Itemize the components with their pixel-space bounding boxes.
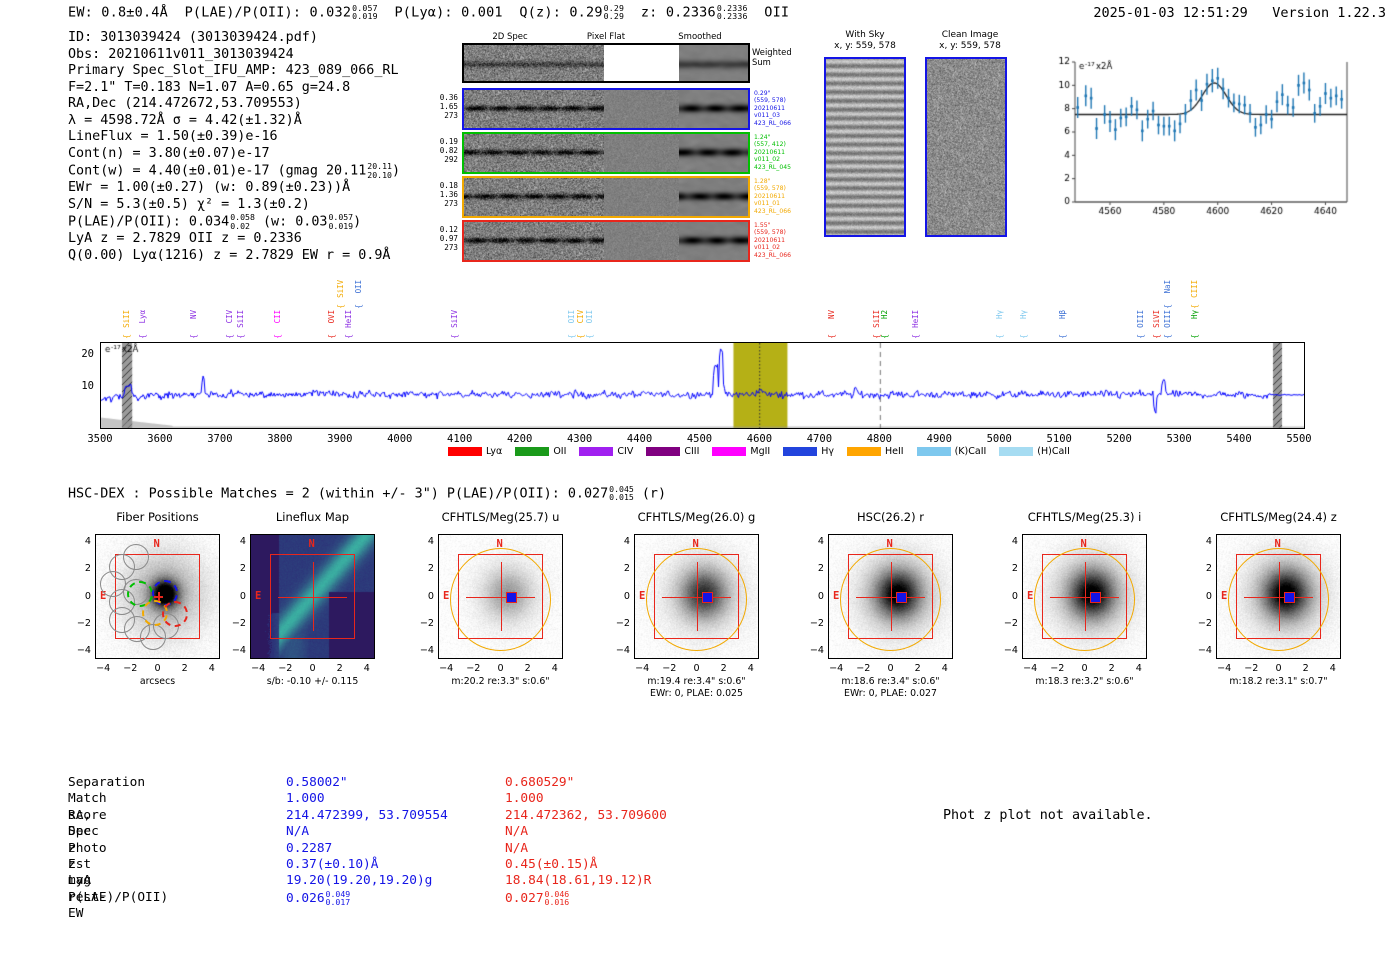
source-ellipse xyxy=(1034,548,1135,651)
param-plae-w-range: 0.0570.019 xyxy=(328,213,353,230)
compass-north: N xyxy=(309,538,315,550)
legend-item: OII xyxy=(515,446,566,457)
spectrum-line-bracket: { xyxy=(1163,334,1172,339)
cutout-row: Fiber PositionsNE−4−4−2−2002244arcsecsLi… xyxy=(0,510,1400,725)
cutout-ytick: 4 xyxy=(228,536,246,547)
match-col1-value: N/A xyxy=(286,824,309,840)
spectrum-line-label: SiII xyxy=(122,310,131,328)
spectrum-xtick: 5300 xyxy=(1159,433,1199,445)
legend-item: Lyα xyxy=(448,446,502,457)
cutout-caption-line1: m:18.6 re:3.4" s:0.6" xyxy=(781,676,1001,688)
cutout-caption: m:20.2 re:3.3" s:0.6" xyxy=(391,676,611,688)
param-primary-spec-slot: Primary Spec_Slot_IFU_AMP: 423_089_066_R… xyxy=(68,63,400,80)
spectrum-xtick: 3500 xyxy=(80,433,120,445)
cutout-ytick: 0 xyxy=(806,591,824,602)
compass-north: N xyxy=(154,538,160,550)
cutout-ytick: −4 xyxy=(228,645,246,656)
cutout-ytick: 2 xyxy=(228,563,246,574)
source-ellipse xyxy=(840,548,941,651)
withsky-image xyxy=(824,57,906,237)
source-marker xyxy=(896,592,907,603)
cutout-caption-line1: m:19.4 re:3.4" s:0.6" xyxy=(587,676,807,688)
cutout-xtick: 0 xyxy=(686,663,708,674)
spectrum-line-bracket: { xyxy=(911,334,920,339)
match-col1-value: 1.000 xyxy=(286,791,325,807)
match-col2-value: 1.000 xyxy=(505,791,544,807)
spectrum-line-bracket: { xyxy=(995,334,1004,339)
spectrum-line-label: Hγ xyxy=(995,310,1004,319)
spectrum-line-label: CIV xyxy=(576,310,585,323)
spectrum-line-label: OIII xyxy=(1163,310,1172,328)
cutout-ytick: −2 xyxy=(73,618,91,629)
source-marker xyxy=(1090,592,1101,603)
full-spectrum-plot xyxy=(100,342,1305,429)
legend-swatch xyxy=(646,447,680,456)
spectrum-line-label: H2 xyxy=(880,310,889,319)
cutout-xtick: 2 xyxy=(1101,663,1123,674)
cutout-ytick: 2 xyxy=(416,563,434,574)
cutout-ytick: −2 xyxy=(228,618,246,629)
param-id: ID: 3013039424 (3013039424.pdf) xyxy=(68,30,400,47)
legend-item: HeII xyxy=(847,446,904,457)
legend-swatch xyxy=(712,447,746,456)
cutout-xtick: −4 xyxy=(825,663,847,674)
spectrum-xtick: 4100 xyxy=(440,433,480,445)
spec2d-row xyxy=(462,132,750,174)
cutout-ytick: 0 xyxy=(1000,591,1018,602)
spectrum-line-label: Hγ xyxy=(1190,310,1199,319)
cutout-xtick: 4 xyxy=(1128,663,1150,674)
cutout-xtick: 0 xyxy=(1074,663,1096,674)
spec2d-row-right-labels: 1.55"(559, 578)20210611v011_02423_RL_066 xyxy=(754,222,814,259)
spectrum-line-label: HeII xyxy=(911,310,920,328)
spectrum-xtick: 4200 xyxy=(500,433,540,445)
source-marker xyxy=(702,592,713,603)
match-col2-value: N/A xyxy=(505,824,528,840)
cutout-ytick: 4 xyxy=(806,536,824,547)
param-plae-range: 0.0580.02 xyxy=(230,213,255,230)
spectrum-line-label: SiII xyxy=(236,310,245,328)
header-plya: P(Lyα): 0.001 xyxy=(394,4,502,20)
match-col2-value: 18.84(18.61,19.12)R xyxy=(505,873,651,889)
spec2d-row-right-labels: 1.28"(559, 578)20210611v011_01423_RL_066 xyxy=(754,178,814,215)
parameter-block: ID: 3013039424 (3013039424.pdf) Obs: 202… xyxy=(68,30,400,264)
cutout-ytick: 4 xyxy=(1194,536,1212,547)
spectrum-line-bracket: { xyxy=(336,304,345,309)
spec2d-row-right-labels: 0.29"(559, 578)20210611v011_03423_RL_066 xyxy=(754,90,814,127)
match-col2-value: 0.680529" xyxy=(505,775,574,791)
cutout-ytick: −2 xyxy=(1000,618,1018,629)
cutout-title: Lineflux Map xyxy=(213,510,413,524)
hsc-dex-plae-range: 0.0450.015 xyxy=(609,485,634,502)
cutout-ytick: 0 xyxy=(612,591,630,602)
cutout-ytick: −4 xyxy=(1194,645,1212,656)
fiber-center-marker-vertical xyxy=(158,592,160,601)
cutout-ytick: 2 xyxy=(1194,563,1212,574)
cutout-title: CFHTLS/Meg(25.3) i xyxy=(985,510,1185,524)
spectrum-line-label: Lyα xyxy=(138,310,147,323)
fiber-circle xyxy=(123,544,149,570)
cutout-xtick: 2 xyxy=(907,663,929,674)
spec2d-row-right-labels: 1.24"(557, 412)20210611v011_02423_RL_045 xyxy=(754,134,814,171)
spectrum-xtick: 3700 xyxy=(200,433,240,445)
cutout-title: CFHTLS/Meg(25.7) u xyxy=(401,510,601,524)
spectrum-xtick: 5500 xyxy=(1279,433,1319,445)
spectrum-legend: LyαOIICIVCIIIMgIIHγHeII(K)CaII(H)CaII xyxy=(448,446,1083,457)
legend-swatch xyxy=(515,447,549,456)
cutout-caption: m:18.6 re:3.4" s:0.6"EWr: 0, PLAE: 0.027 xyxy=(781,676,1001,699)
header-version: Version 1.22.3 xyxy=(1272,5,1386,21)
legend-swatch xyxy=(448,447,482,456)
spec2d-row xyxy=(462,88,750,130)
cutout-ytick: −4 xyxy=(612,645,630,656)
cutout-ytick: 2 xyxy=(1000,563,1018,574)
spectrum-xtick: 4700 xyxy=(799,433,839,445)
spectrum-xtick: 5200 xyxy=(1099,433,1139,445)
spectrum-line-bracket: { xyxy=(273,334,282,339)
header-z-range: 0.23360.2336 xyxy=(717,4,748,21)
spectrum-xtick: 4000 xyxy=(380,433,420,445)
param-lambda-sigma: λ = 4598.72Å σ = 4.42(±1.32)Å xyxy=(68,113,400,130)
legend-label: Lyα xyxy=(486,446,502,457)
cutout-ytick: 2 xyxy=(73,563,91,574)
spectrum-line-label: OIII xyxy=(1136,310,1145,328)
spectrum-line-label: SiIV xyxy=(450,310,459,328)
cutout-xtick: −2 xyxy=(1240,663,1262,674)
cutout-xtick: 0 xyxy=(147,663,169,674)
legend-label: OII xyxy=(553,446,566,457)
header-plae-value: 0.032 xyxy=(310,4,352,20)
header-z-type: OII xyxy=(764,4,789,20)
cutout-caption: s/b: -0.10 +/- 0.115 xyxy=(203,676,423,688)
cutout-caption-line1: s/b: -0.10 +/- 0.115 xyxy=(203,676,423,688)
legend-swatch xyxy=(917,447,951,456)
spectrum-line-label: NV xyxy=(189,310,198,319)
legend-label: CIII xyxy=(684,446,699,457)
cutout-caption: m:19.4 re:3.4" s:0.6"EWr: 0, PLAE: 0.025 xyxy=(587,676,807,699)
cutout-xtick: 0 xyxy=(490,663,512,674)
spectrum-line-bracket: { xyxy=(585,334,594,339)
spec2d-row xyxy=(462,176,750,218)
spec2d-weighted-sum-row xyxy=(462,43,750,83)
match-col1-value: 0.2287 xyxy=(286,841,332,857)
source-ellipse xyxy=(646,548,747,651)
cutout-ytick: 0 xyxy=(228,591,246,602)
cutout-ytick: 4 xyxy=(416,536,434,547)
legend-label: MgII xyxy=(750,446,770,457)
header-qz-label: Q(z): xyxy=(519,4,561,20)
cutout-xtick: −2 xyxy=(462,663,484,674)
legend-swatch xyxy=(999,447,1033,456)
spectrum-line-label: HeII xyxy=(344,310,353,328)
param-continuum-narrow: Cont(n) = 3.80(±0.07)e-17 xyxy=(68,146,400,163)
cutout-caption: m:18.3 re:3.2" s:0.6" xyxy=(975,676,1195,688)
spectrum-line-label: OII xyxy=(567,310,576,323)
spectrum-xtick: 3800 xyxy=(260,433,300,445)
cutout-ytick: −4 xyxy=(1000,645,1018,656)
cutout-ytick: −2 xyxy=(806,618,824,629)
cutout-ytick: 2 xyxy=(806,563,824,574)
cutout-xtick: −4 xyxy=(631,663,653,674)
spec2d-col-title-smoothed: Smoothed xyxy=(652,32,748,42)
spectrum-line-label: CII xyxy=(273,310,282,323)
cutout-caption: m:18.2 re:3.1" s:0.7" xyxy=(1169,676,1389,688)
spectrum-line-label: SiVI xyxy=(1152,310,1161,328)
match-col1-value: 214.472399, 53.709554 xyxy=(286,808,448,824)
match-col2-value: 0.0270.0460.016 xyxy=(505,890,569,907)
spectrum-line-bracket: { xyxy=(344,334,353,339)
legend-item: (K)CaII xyxy=(917,446,987,457)
compass-east: E xyxy=(833,590,839,602)
spectrum-line-label: CIV xyxy=(225,310,234,323)
cutout-ytick: −2 xyxy=(1194,618,1212,629)
cutout-xtick: 2 xyxy=(174,663,196,674)
param-ewr: EWr = 1.00(±0.27) (w: 0.89(±0.23))Å xyxy=(68,180,400,197)
spectrum-line-label: OII xyxy=(585,310,594,323)
param-snr-chi2: S/N = 5.3(±0.5) χ² = 1.3(±0.2) xyxy=(68,197,400,214)
legend-swatch xyxy=(847,447,881,456)
spectrum-line-bracket: { xyxy=(450,334,459,339)
spectrum-line-bracket: { xyxy=(1019,334,1028,339)
spectrum-line-bracket: { xyxy=(354,304,363,309)
header-summary-line: EW: 0.8±0.4Å P(LAE)/P(OII): 0.0320.0570.… xyxy=(68,4,789,21)
spectrum-line-label: OVI xyxy=(327,310,336,323)
param-fwhm-throughput: F=2.1" T=0.183 N=1.07 A=0.65 g=24.8 xyxy=(68,80,400,97)
compass-east: E xyxy=(639,590,645,602)
header-z-value: 0.2336 xyxy=(666,4,716,20)
cutout-xtick: −2 xyxy=(852,663,874,674)
match-col1-plae-range: 0.0490.017 xyxy=(326,890,351,907)
param-redshifts: LyA z = 2.7829 OII z = 0.2336 xyxy=(68,231,400,248)
match-col1-value: 0.58002" xyxy=(286,775,348,791)
spec2d-col-title-2dspec: 2D Spec xyxy=(462,32,558,42)
header-qz-value: 0.29 xyxy=(569,4,602,20)
spectrum-line-bracket: { xyxy=(880,334,889,339)
cutout-ytick: 0 xyxy=(73,591,91,602)
cutout-xtick: 2 xyxy=(517,663,539,674)
cutout-xtick: 4 xyxy=(201,663,223,674)
cutout-xtick: 4 xyxy=(544,663,566,674)
cutout-ytick: 0 xyxy=(416,591,434,602)
compass-east: E xyxy=(443,590,449,602)
legend-label: (K)CaII xyxy=(955,446,987,457)
cutout-ytick: 4 xyxy=(1000,536,1018,547)
legend-item: (H)CaII xyxy=(999,446,1070,457)
cutout-ytick: −4 xyxy=(73,645,91,656)
compass-east: E xyxy=(1027,590,1033,602)
spec2d-row-left-labels: 0.190.82292 xyxy=(424,137,458,165)
cutout-xtick: −2 xyxy=(119,663,141,674)
param-obs: Obs: 20210611v011_3013039424 xyxy=(68,47,400,64)
cleanimage-title: Clean Imagex, y: 559, 578 xyxy=(915,30,1025,52)
legend-swatch xyxy=(783,447,817,456)
spectrum-line-bracket: { xyxy=(576,334,585,339)
photz-note: Phot z plot not available. xyxy=(943,808,1153,823)
spectrum-line-label: NV xyxy=(827,310,836,319)
spectrum-line-labels: SiII{Lyα{NV{CIV{SiII{CII{OVI{HeII{SiIV{O… xyxy=(100,282,1305,342)
param-continuum-wide: Cont(w) = 4.40(±0.01)e-17 (gmag 20.1120.… xyxy=(68,162,400,180)
cutout-xtick: −2 xyxy=(658,663,680,674)
match-col2-value: 214.472362, 53.709600 xyxy=(505,808,667,824)
source-marker xyxy=(506,592,517,603)
spectrum-xtick: 3900 xyxy=(320,433,360,445)
spectrum-line-label: Hγ xyxy=(1019,310,1028,319)
spectrum-y-ticks: 1020 xyxy=(70,342,98,429)
legend-label: Hγ xyxy=(821,446,834,457)
cutout-xtick: −2 xyxy=(274,663,296,674)
spectrum-line-bracket: { xyxy=(1163,304,1172,309)
param-gmag-range: 20.1120.10 xyxy=(367,162,392,179)
legend-item: CIV xyxy=(579,446,633,457)
cutout-title: HSC(26.2) r xyxy=(791,510,991,524)
spec2d-row-left-labels: 0.361.65273 xyxy=(424,93,458,121)
legend-item: CIII xyxy=(646,446,699,457)
cutout-xtick: −4 xyxy=(1213,663,1235,674)
cutout-xtick: −4 xyxy=(435,663,457,674)
header-plae-range: 0.0570.019 xyxy=(352,4,378,21)
cutout-ytick: 4 xyxy=(612,536,630,547)
spec2d-row-left-labels: 0.181.36273 xyxy=(424,181,458,209)
spectrum-line-bracket: { xyxy=(1190,304,1199,309)
spectrum-line-label: Hβ xyxy=(1058,310,1067,319)
spectrum-line-bracket: { xyxy=(138,334,147,339)
center-crosshair-vertical xyxy=(313,562,314,631)
header-ew: EW: 0.8±0.4Å xyxy=(68,4,168,20)
cutout-xtick: −4 xyxy=(1019,663,1041,674)
spectrum-line-label: OII xyxy=(354,280,363,293)
spectrum-xtick: 4400 xyxy=(620,433,660,445)
param-lineflux: LineFlux = 1.50(±0.39)e-16 xyxy=(68,129,400,146)
match-col1-value: 19.20(19.20,19.20)g xyxy=(286,873,432,889)
spectrum-line-label: CIII xyxy=(1190,280,1199,298)
cutout-caption-line2: EWr: 0, PLAE: 0.027 xyxy=(781,688,1001,700)
spectrum-xtick: 5100 xyxy=(1039,433,1079,445)
spectrum-line-bracket: { xyxy=(1058,334,1067,339)
cutout-xtick: −4 xyxy=(92,663,114,674)
cutout-ytick: 4 xyxy=(73,536,91,547)
spectrum-line-label: SiIV xyxy=(336,280,345,298)
cutout-xtick: −2 xyxy=(1046,663,1068,674)
spectrum-line-label: NaI xyxy=(1163,280,1172,293)
cleanimage-image xyxy=(925,57,1007,237)
header-timestamp-version: 2025-01-03 12:51:29 Version 1.22.3 xyxy=(1093,5,1386,21)
param-radec: RA,Dec (214.472672,53.709553) xyxy=(68,96,400,113)
compass-east: E xyxy=(1221,590,1227,602)
spectrum-line-bracket: { xyxy=(225,334,234,339)
cutout-caption-line1: m:18.2 re:3.1" s:0.7" xyxy=(1169,676,1389,688)
spectrum-xtick: 4300 xyxy=(560,433,600,445)
spectrum-line-bracket: { xyxy=(236,334,245,339)
cutout-ytick: −4 xyxy=(416,645,434,656)
spectrum-line-bracket: { xyxy=(122,334,131,339)
spectrum-xtick: 4500 xyxy=(680,433,720,445)
cutout-xtick: 2 xyxy=(713,663,735,674)
match-col2-value: N/A xyxy=(505,841,528,857)
spectrum-line-bracket: { xyxy=(1136,334,1145,339)
match-row-label: Separation xyxy=(68,775,145,791)
source-ellipse xyxy=(1228,548,1329,651)
cutout-caption-line1: m:18.3 re:3.2" s:0.6" xyxy=(975,676,1195,688)
withsky-title: With Skyx, y: 559, 578 xyxy=(810,30,920,52)
spectrum-ytick: 10 xyxy=(70,380,94,392)
cutout-ytick: −2 xyxy=(612,618,630,629)
legend-item: MgII xyxy=(712,446,770,457)
spectrum-line-bracket: { xyxy=(1190,334,1199,339)
param-plae-poii: P(LAE)/P(OII): 0.0340.0580.02 (w: 0.030.… xyxy=(68,213,400,231)
spectrum-xtick: 5000 xyxy=(979,433,1019,445)
cutout-caption-line1: m:20.2 re:3.3" s:0.6" xyxy=(391,676,611,688)
spectrum-xtick: 4800 xyxy=(859,433,899,445)
match-col1-value: 0.37(±0.10)Å xyxy=(286,857,378,873)
spectrum-ytick: 20 xyxy=(70,348,94,360)
cutout-caption-line2: EWr: 0, PLAE: 0.025 xyxy=(587,688,807,700)
cutout-xtick: 0 xyxy=(302,663,324,674)
header-plae-label: P(LAE)/P(OII): xyxy=(185,4,302,20)
cutout-xtick: 2 xyxy=(1295,663,1317,674)
source-marker xyxy=(1284,592,1295,603)
legend-item: Hγ xyxy=(783,446,834,457)
spectrum-line-bracket: { xyxy=(567,334,576,339)
spectrum-xtick: 3600 xyxy=(140,433,180,445)
legend-label: CIV xyxy=(617,446,633,457)
spectrum-xtick: 4600 xyxy=(739,433,779,445)
cutout-ytick: −2 xyxy=(416,618,434,629)
cutout-title: CFHTLS/Meg(24.4) z xyxy=(1179,510,1379,524)
spec2d-weighted-sum-label: Weighted Sum xyxy=(752,48,792,68)
header-timestamp: 2025-01-03 12:51:29 xyxy=(1093,5,1247,21)
spectrum-line-bracket: { xyxy=(1152,334,1161,339)
header-qz-range: 0.290.29 xyxy=(604,4,625,21)
cutout-xtick: −4 xyxy=(247,663,269,674)
match-row-label: mag xyxy=(68,873,91,889)
legend-swatch xyxy=(579,447,613,456)
spec2d-row xyxy=(462,220,750,262)
param-quality-line: Q(0.00) Lyα(1216) z = 2.7829 EW r = 0.9Å xyxy=(68,248,400,265)
cutout-xtick: 4 xyxy=(934,663,956,674)
match-col1-value: 0.0260.0490.017 xyxy=(286,890,350,907)
cutout-xtick: 4 xyxy=(356,663,378,674)
spectrum-line-bracket: { xyxy=(189,334,198,339)
cutout-ytick: 0 xyxy=(1194,591,1212,602)
legend-label: (H)CaII xyxy=(1037,446,1070,457)
source-ellipse xyxy=(450,548,551,651)
spectrum-line-bracket: { xyxy=(827,334,836,339)
match-col2-value: 0.45(±0.15)Å xyxy=(505,857,597,873)
spectrum-line-bracket: { xyxy=(327,334,336,339)
cutout-title: CFHTLS/Meg(26.0) g xyxy=(597,510,797,524)
spectrum-xtick: 4900 xyxy=(919,433,959,445)
cutout-xtick: 2 xyxy=(329,663,351,674)
cutout-ytick: −4 xyxy=(806,645,824,656)
emission-line-fit-plot xyxy=(1035,52,1355,232)
spec2d-col-title-pixelflat: Pixel Flat xyxy=(558,32,654,42)
spectrum-xtick: 5400 xyxy=(1219,433,1259,445)
match-col2-plae-range: 0.0460.016 xyxy=(545,890,570,907)
hsc-dex-line: HSC-DEX : Possible Matches = 2 (within +… xyxy=(68,485,666,502)
cutout-xtick: 0 xyxy=(1268,663,1290,674)
legend-label: HeII xyxy=(885,446,904,457)
spec2d-row-left-labels: 0.120.97273 xyxy=(424,225,458,253)
cutout-xtick: 4 xyxy=(1322,663,1344,674)
cutout-xtick: 4 xyxy=(740,663,762,674)
compass-east: E xyxy=(255,590,261,602)
cutout-xtick: 0 xyxy=(880,663,902,674)
match-row-label: P(LAE)/P(OII) xyxy=(68,890,168,906)
cutout-ytick: 2 xyxy=(612,563,630,574)
header-z-label: z: xyxy=(641,4,658,20)
